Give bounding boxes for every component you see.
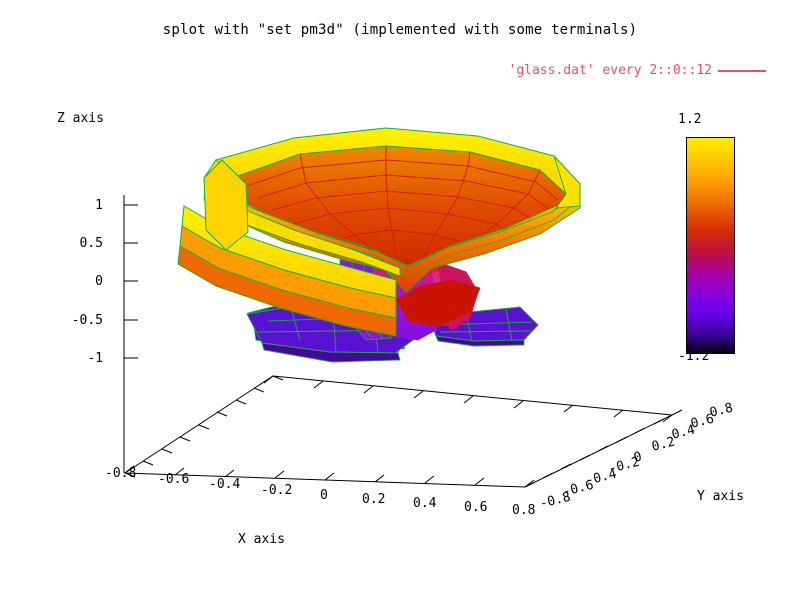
y-axis-ticks-right (525, 410, 682, 487)
surface-glass (178, 128, 580, 362)
plot-graphics (0, 0, 800, 600)
gnuplot-canvas: splot with "set pm3d" (implemented with … (0, 0, 800, 600)
x-axis-ticks-back (264, 376, 672, 422)
z-axis-ticks (124, 205, 138, 358)
x-axis-ticks (125, 466, 534, 487)
y-axis-ticks-left (125, 376, 283, 477)
